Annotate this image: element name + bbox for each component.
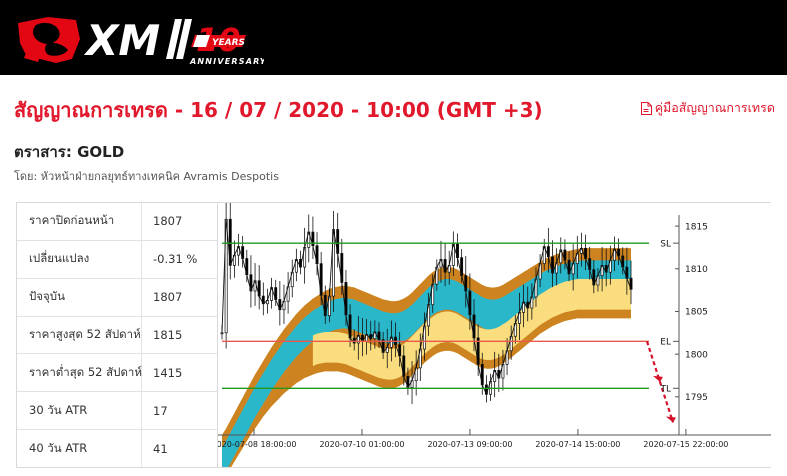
stat-value: -0.31 % <box>142 252 217 266</box>
author-byline: โดย: หัวหน้าฝ่ายกลยุทธ์ทางเทคนิค Avramis… <box>14 167 279 185</box>
table-row: ราคาปิดก่อนหน้า 1807 <box>17 203 217 241</box>
price-chart[interactable]: Hourly 17951800180518101815SLELTL2020-07… <box>218 203 770 467</box>
table-row: ราคาสูงสุด 52 สัปดาห์ 1815 <box>17 317 217 355</box>
x-axis-tick-label: 2020-07-13 09:00:00 <box>427 440 512 449</box>
y-axis-tick-label: 1810 <box>685 265 708 275</box>
level-label-sl: SL <box>660 239 671 249</box>
table-row: 40 วัน ATR 41 <box>17 430 217 467</box>
table-row: เปลี่ยนแปลง -0.31 % <box>17 241 217 279</box>
brand-header-bar: XM 10 YEARS ANNIVERSARY <box>0 0 787 75</box>
x-axis-tick-label: 2020-07-10 01:00:00 <box>319 440 404 449</box>
pdf-file-icon <box>641 102 652 115</box>
stat-value: 1807 <box>142 214 217 228</box>
stat-label: 40 วัน ATR <box>17 430 142 467</box>
chart-canvas: 17951800180518101815SLELTL2020-07-08 18:… <box>218 203 771 467</box>
stat-value: 41 <box>142 442 217 456</box>
stats-table: ราคาปิดก่อนหน้า 1807 เปลี่ยนแปลง -0.31 %… <box>17 203 218 467</box>
y-axis-tick-label: 1815 <box>685 222 708 232</box>
svg-text:XM: XM <box>83 16 160 65</box>
instrument-label: ตราสาร: GOLD <box>14 140 124 164</box>
stat-label: ราคาปิดก่อนหน้า <box>17 203 142 240</box>
xm-logo[interactable]: XM 10 YEARS ANNIVERSARY <box>14 9 264 67</box>
stat-value: 1807 <box>142 290 217 304</box>
level-label-el: EL <box>660 338 671 348</box>
level-label-tl: TL <box>659 385 671 395</box>
table-row: 30 วัน ATR 17 <box>17 392 217 430</box>
stat-label: ราคาสูงสุด 52 สัปดาห์ <box>17 317 142 354</box>
table-row: ปัจจุบัน 1807 <box>17 279 217 317</box>
y-axis-tick-label: 1805 <box>685 308 708 318</box>
stat-label: เปลี่ยนแปลง <box>17 241 142 278</box>
x-axis-tick-label: 2020-07-14 15:00:00 <box>535 440 620 449</box>
stat-label: ปัจจุบัน <box>17 279 142 316</box>
stat-value: 1415 <box>142 366 217 380</box>
stat-value: 17 <box>142 404 217 418</box>
x-axis-tick-label: 2020-07-08 18:00:00 <box>218 440 296 449</box>
pdf-guide-link[interactable]: คู่มือสัญญาณการเทรด <box>641 98 775 118</box>
stat-value: 1815 <box>142 328 217 342</box>
svg-text:YEARS: YEARS <box>212 38 245 48</box>
svg-text:ANNIVERSARY: ANNIVERSARY <box>189 57 264 66</box>
page-title: สัญญาณการเทรด - 16 / 07 / 2020 - 10:00 (… <box>14 94 543 126</box>
table-row: ราคาต่ำสุด 52 สัปดาห์ 1415 <box>17 354 217 392</box>
y-axis-tick-label: 1800 <box>685 350 708 360</box>
x-axis-tick-label: 2020-07-15 22:00:00 <box>643 440 728 449</box>
stat-label: 30 วัน ATR <box>17 392 142 429</box>
y-axis-tick-label: 1795 <box>685 393 708 403</box>
xm-logo-svg: XM 10 YEARS ANNIVERSARY <box>14 9 264 67</box>
pdf-guide-label: คู่มือสัญญาณการเทรด <box>655 98 775 118</box>
signal-panel: ราคาปิดก่อนหน้า 1807 เปลี่ยนแปลง -0.31 %… <box>16 202 771 468</box>
stat-label: ราคาต่ำสุด 52 สัปดาห์ <box>17 354 142 391</box>
